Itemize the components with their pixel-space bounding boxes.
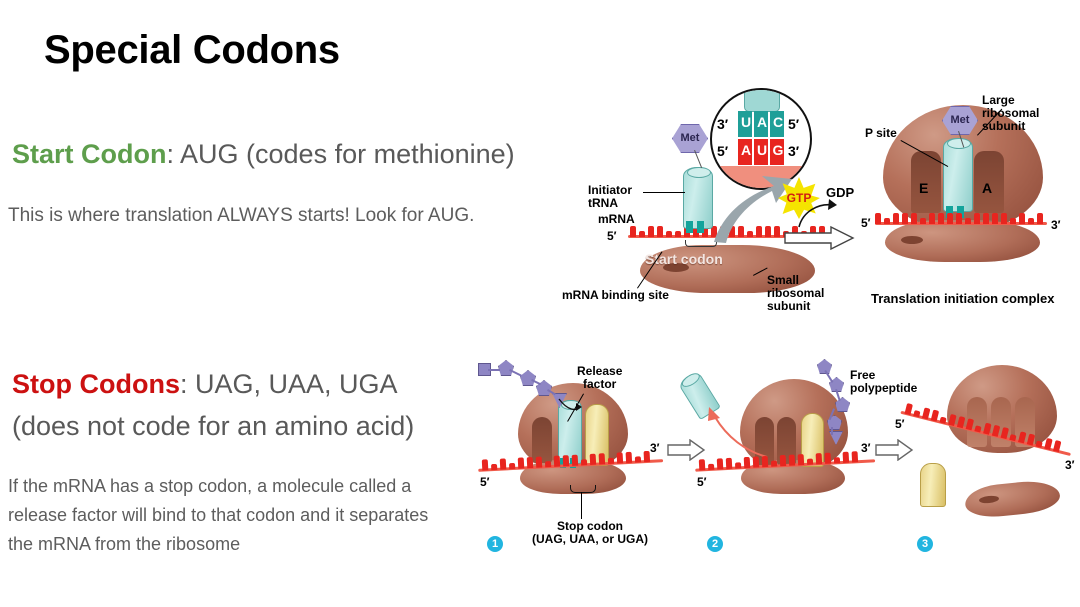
released-release-factor	[920, 463, 946, 507]
anticodon-base-0: U	[740, 114, 752, 130]
initiator-trna-label: Initiator tRNA	[588, 184, 632, 210]
p-site-label: P site	[865, 127, 897, 140]
e-site-letter: E	[919, 180, 928, 196]
mrna-label-initiation: mRNA	[598, 213, 635, 226]
anticodon-leg-left	[686, 221, 693, 233]
stop-codon-body-text: If the mRNA has a stop codon, a molecule…	[8, 472, 458, 559]
trna-release-arrow	[701, 403, 771, 461]
start-codon-heading: Start Codon: AUG (codes for methionine)	[12, 139, 515, 170]
large-ribosomal-subunit-label: Large ribosomal subunit	[982, 94, 1039, 133]
panel-number-badge-1: 1	[487, 536, 503, 552]
termination-panel-1: 5′ 3′ Release factor Stop codon (UAG, UA…	[470, 355, 670, 555]
stop-codon-bracket	[570, 485, 596, 493]
codon-right-end: 3′	[788, 143, 799, 159]
magnifier-trna-stem	[744, 88, 780, 112]
anticodon-left-end: 3′	[717, 116, 728, 132]
release-factor-label: Release factor	[577, 365, 622, 391]
stop-codon-heading: Stop Codons: UAG, UAA, UGA (does not cod…	[12, 363, 482, 447]
stop-codon-keyword: Stop Codons	[12, 369, 180, 399]
panel2-five-prime: 5′	[697, 475, 707, 489]
panel3-three-prime: 3′	[1065, 458, 1075, 472]
stop-codon-definition: : UAG, UAA, UGA	[180, 369, 398, 399]
slide-canvas: Special Codons Start Codon: AUG (codes f…	[0, 0, 1080, 607]
termination-panel-3: 5′ 3′ 3	[895, 355, 1080, 555]
stop-codon-subnote: (does not code for an amino acid)	[12, 411, 414, 441]
codon-base-0: A	[740, 142, 752, 158]
start-codon-body-text: This is where translation ALWAYS starts!…	[8, 205, 474, 227]
magnifier-pointer-arrow	[700, 170, 795, 245]
panel-number-badge-2: 2	[707, 536, 723, 552]
translation-termination-diagram: 5′ 3′ Release factor Stop codon (UAG, UA…	[470, 355, 1080, 565]
mrna-binding-site-shape-complex	[901, 236, 923, 244]
codon-left-end: 5′	[717, 143, 728, 159]
panel2-three-prime: 3′	[861, 441, 871, 455]
initiator-trna-leader	[643, 192, 685, 193]
panel1-three-prime: 3′	[650, 441, 660, 455]
complex-three-prime-end: 3′	[1051, 218, 1061, 232]
translation-initiation-diagram: 5′ 3′ Start codon Met 3′ 5′ 5′ 3′	[545, 85, 1080, 315]
mrna-strand-complex	[875, 213, 1047, 227]
gtp-to-gdp-arrow	[795, 195, 845, 229]
start-codon-keyword: Start Codon	[12, 139, 167, 169]
termination-panel-2: Free polypeptide 5′ 3′ 2	[685, 355, 900, 555]
anticodon-base-1: A	[756, 114, 768, 130]
anticodon-right-end: 5′	[788, 116, 799, 132]
initiation-progress-arrow	[783, 225, 857, 251]
amino-acid-bead	[498, 360, 514, 376]
start-codon-definition: : AUG (codes for methionine)	[167, 139, 515, 169]
a-site-letter: A	[982, 180, 992, 196]
panel3-five-prime: 5′	[895, 417, 905, 431]
amino-acid-bead	[520, 370, 536, 386]
codon-base-2: G	[772, 142, 784, 158]
panel1-five-prime: 5′	[480, 475, 490, 489]
small-ribosomal-subunit-label: Small ribosomal subunit	[767, 274, 824, 313]
met-tag-initiation: Met	[672, 124, 708, 153]
p-site-trna-shape	[943, 138, 973, 212]
anticodon-base-2: C	[772, 114, 784, 130]
panel-number-badge-3: 3	[917, 536, 933, 552]
codon-base-1: U	[756, 142, 768, 158]
mrna-binding-site-label: mRNA binding site	[562, 289, 669, 302]
page-title: Special Codons	[44, 28, 340, 73]
complex-five-prime-end: 5′	[861, 216, 871, 230]
initiation-complex-caption: Translation initiation complex	[871, 291, 1054, 306]
mrna-five-prime-end-initiation: 5′	[607, 229, 617, 243]
stop-codon-label-panel1: Stop codon (UAG, UAA, or UGA)	[532, 520, 648, 546]
stop-codon-leader	[581, 492, 582, 519]
